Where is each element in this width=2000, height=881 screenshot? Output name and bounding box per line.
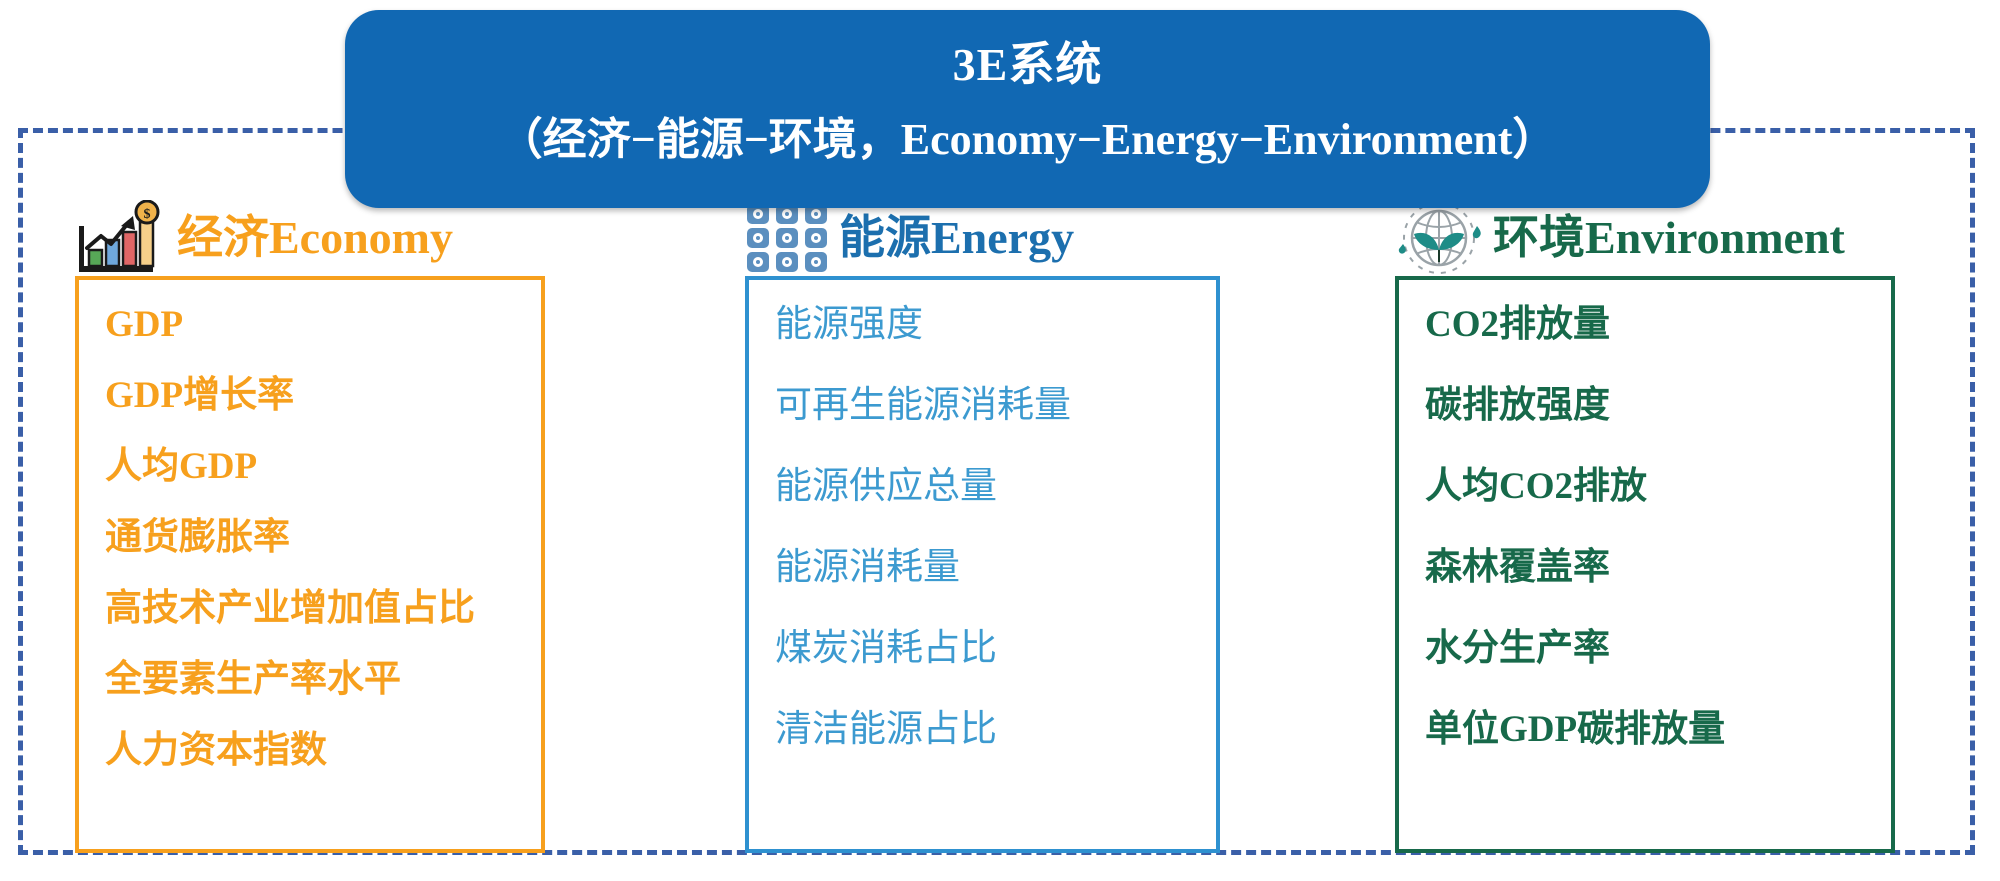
column-economy-title: 经济Economy	[171, 215, 453, 261]
list-item: 人力资本指数	[105, 732, 541, 769]
column-environment-title: 环境Environment	[1487, 215, 1845, 261]
column-economy: $ 经济Economy GDP GDP增长率 人均GDP 通货膨胀率 高技术产业…	[75, 200, 565, 853]
list-item: 碳排放强度	[1425, 387, 1891, 424]
bar-chart-growth-coin-icon: $	[75, 200, 171, 276]
column-energy: 能源Energy 能源强度 可再生能源消耗量 能源供应总量 能源消耗量 煤炭消耗…	[745, 200, 1245, 853]
list-item: 煤炭消耗占比	[775, 630, 1216, 667]
column-energy-header: 能源Energy	[745, 200, 1245, 276]
energy-grid-tiles-icon	[745, 200, 833, 276]
list-item: GDP增长率	[105, 377, 541, 414]
list-item: 人均GDP	[105, 448, 541, 485]
column-economy-header: $ 经济Economy	[75, 200, 565, 276]
column-environment: 环境Environment CO2排放量 碳排放强度 人均CO2排放 森林覆盖率…	[1395, 200, 1955, 853]
list-item: 水分生产率	[1425, 630, 1891, 667]
column-energy-title: 能源Energy	[833, 215, 1074, 261]
list-item: 能源供应总量	[775, 468, 1216, 505]
list-item: 人均CO2排放	[1425, 468, 1891, 505]
list-item: 清洁能源占比	[775, 711, 1216, 748]
list-item: 全要素生产率水平	[105, 661, 541, 698]
system-subtitle: （经济−能源−环境，Economy−Energy−Environment）	[345, 110, 1710, 169]
list-item: 能源消耗量	[775, 549, 1216, 586]
list-item: 可再生能源消耗量	[775, 387, 1216, 424]
list-item: 单位GDP碳排放量	[1425, 711, 1891, 748]
list-item: 森林覆盖率	[1425, 549, 1891, 586]
globe-leaves-icon	[1395, 200, 1487, 276]
list-item: 能源强度	[775, 306, 1216, 343]
column-environment-header: 环境Environment	[1395, 200, 1955, 276]
system-title-banner: 3E系统 （经济−能源−环境，Economy−Energy−Environmen…	[345, 10, 1710, 208]
list-item: 通货膨胀率	[105, 519, 541, 556]
list-item: CO2排放量	[1425, 306, 1891, 343]
system-title: 3E系统	[345, 36, 1710, 94]
list-item: 高技术产业增加值占比	[105, 590, 541, 627]
svg-text:$: $	[144, 207, 151, 222]
economy-indicator-list: GDP GDP增长率 人均GDP 通货膨胀率 高技术产业增加值占比 全要素生产率…	[75, 276, 545, 853]
list-item: GDP	[105, 306, 541, 343]
environment-indicator-list: CO2排放量 碳排放强度 人均CO2排放 森林覆盖率 水分生产率 单位GDP碳排…	[1395, 276, 1895, 853]
energy-indicator-list: 能源强度 可再生能源消耗量 能源供应总量 能源消耗量 煤炭消耗占比 清洁能源占比	[745, 276, 1220, 853]
